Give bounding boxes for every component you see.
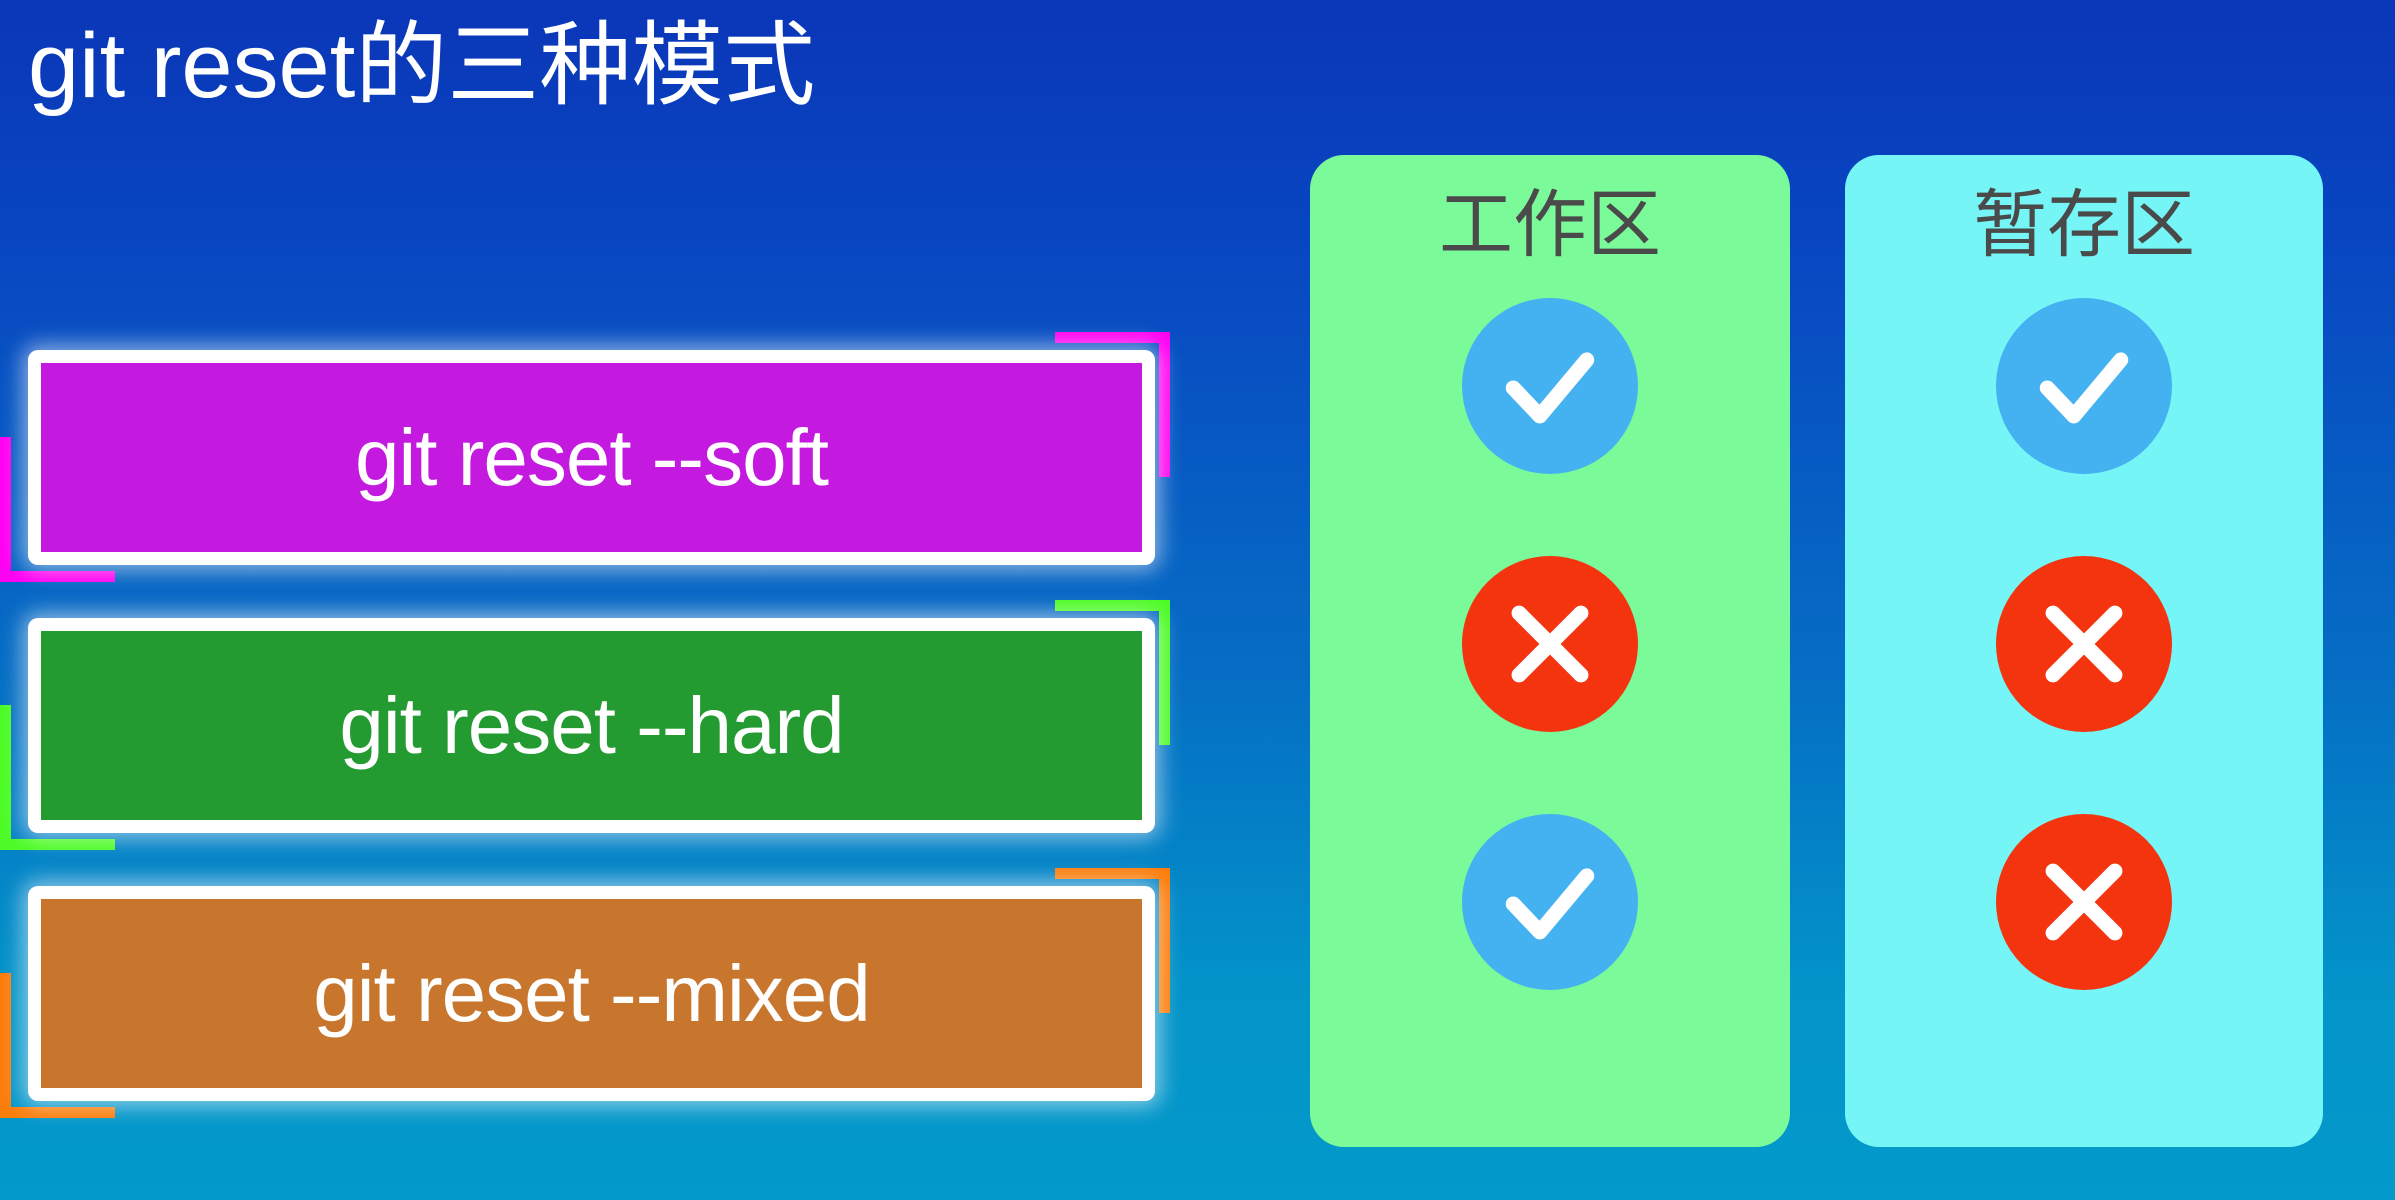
command-row-mixed: git reset --mixed [0, 868, 1180, 1118]
command-card-soft[interactable]: git reset --soft [28, 350, 1155, 565]
cross-circle-icon [1462, 556, 1638, 732]
command-card-hard[interactable]: git reset --hard [28, 618, 1155, 833]
status-icon-stack [1996, 298, 2172, 990]
command-card-mixed[interactable]: git reset --mixed [28, 886, 1155, 1101]
panel-staging-area: 暂存区 [1845, 155, 2323, 1147]
command-label: git reset --soft [355, 412, 828, 504]
command-row-soft: git reset --soft [0, 332, 1180, 582]
cross-circle-icon [1996, 814, 2172, 990]
cross-circle-icon [1996, 556, 2172, 732]
command-row-hard: git reset --hard [0, 600, 1180, 850]
panel-title: 工作区 [1439, 179, 1661, 272]
check-circle-icon [1462, 814, 1638, 990]
check-circle-icon [1462, 298, 1638, 474]
command-label: git reset --hard [339, 680, 843, 772]
status-icon-stack [1462, 298, 1638, 990]
panel-title: 暂存区 [1973, 179, 2195, 272]
check-circle-icon [1996, 298, 2172, 474]
command-label: git reset --mixed [313, 948, 869, 1040]
panel-working-directory: 工作区 [1310, 155, 1790, 1147]
page-title: git reset的三种模式 [28, 18, 815, 115]
